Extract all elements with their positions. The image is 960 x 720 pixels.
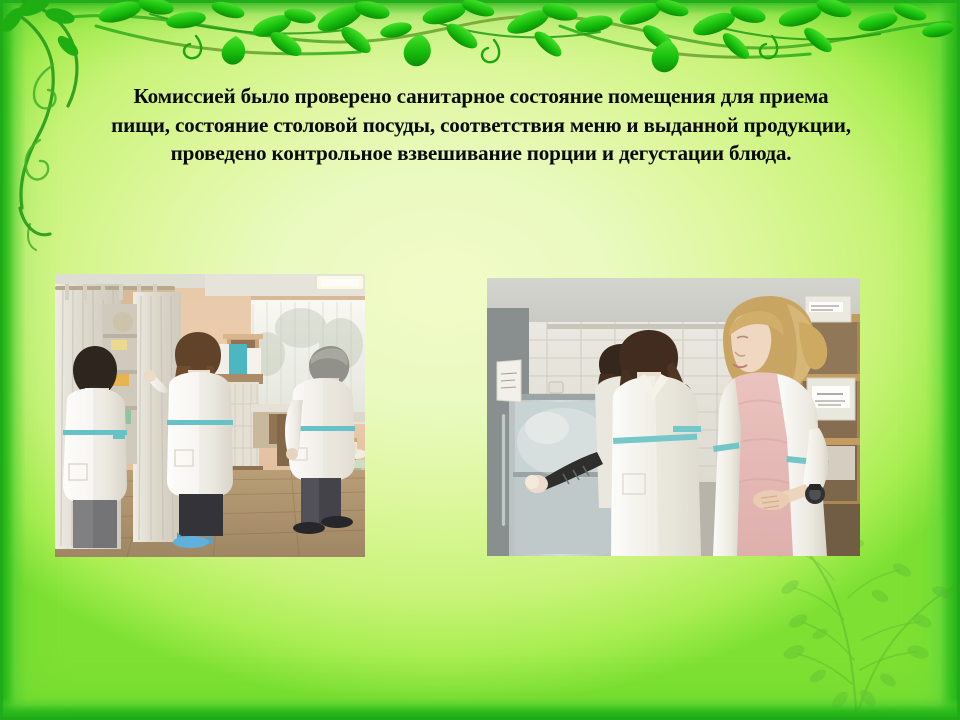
frame-left-edge [0, 0, 26, 720]
frame-top-edge [0, 0, 960, 14]
slide-caption: Комиссией было проверено санитарное сост… [102, 82, 860, 168]
frame-right-edge [926, 0, 960, 720]
frame-bottom-edge [0, 698, 960, 720]
vine-ornament-icon [0, 0, 960, 82]
photo-inspection-kitchen [487, 278, 860, 556]
slide: Комиссией было проверено санитарное сост… [0, 0, 960, 720]
photo-inspection-dining-room [55, 274, 365, 557]
